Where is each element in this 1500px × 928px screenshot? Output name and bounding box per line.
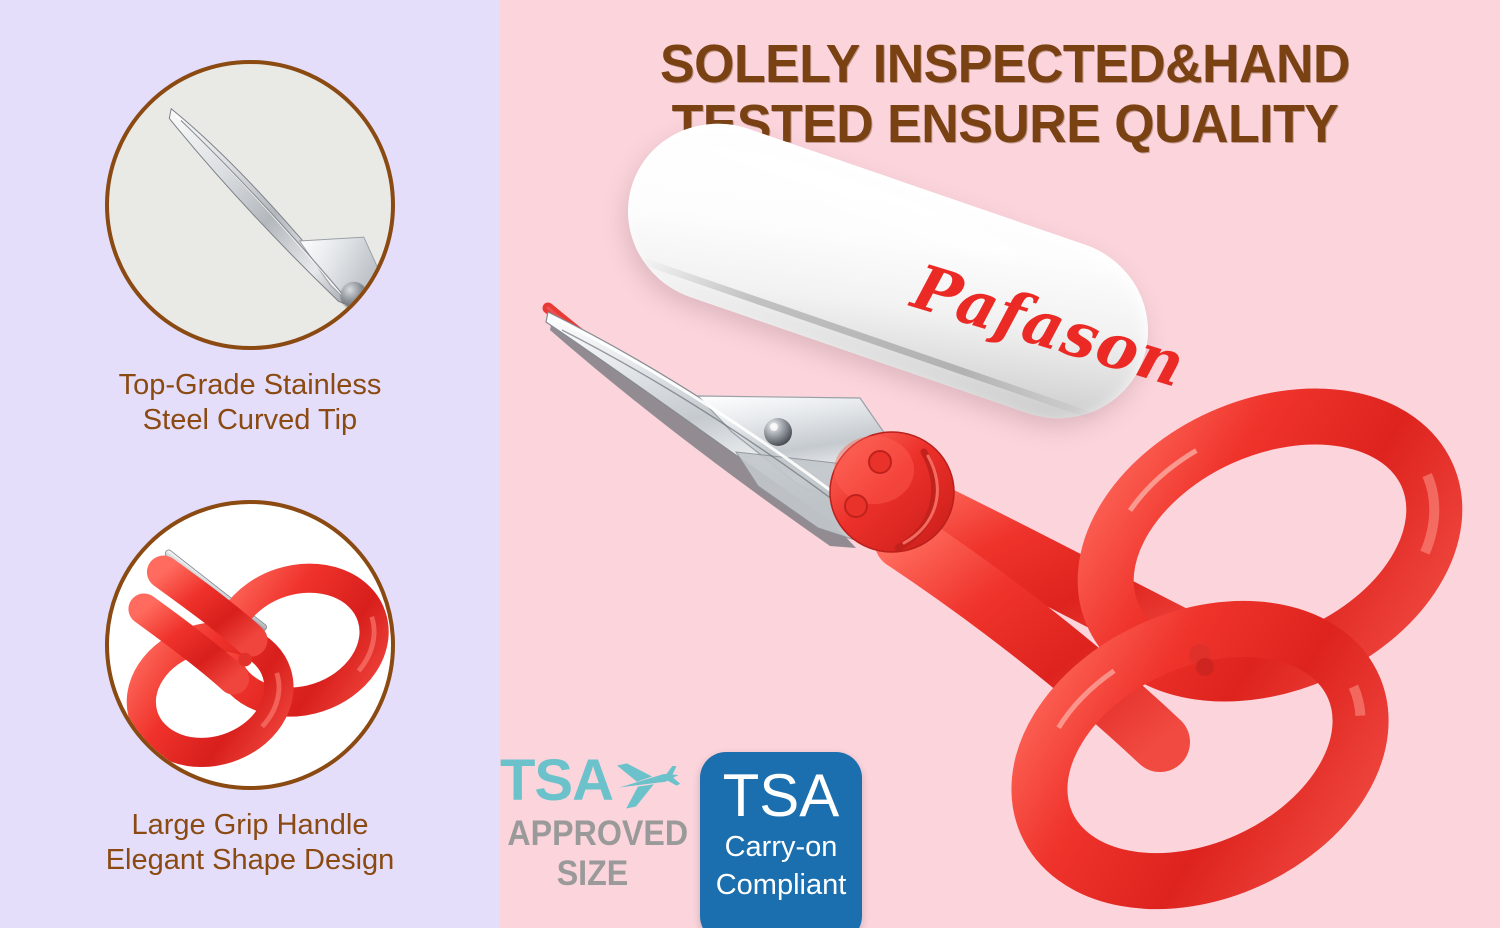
red-handle-rings-icon [109,504,391,786]
tsa-badge-title: TSA [700,764,862,828]
feature-caption-grip-handle: Large Grip Handle Elegant Shape Design [0,808,500,878]
tsa-carry-on-compliant-badge: TSA Carry-on Compliant [700,752,862,928]
product-banner: SOLELY INSPECTED&HAND TESTED ENSURE QUAL… [0,0,1500,928]
airplane-icon [615,753,685,809]
tsa-badge-line1: Carry-on [700,828,862,866]
feature-circle-curved-tip [105,60,395,350]
tsa-approved-word: TSA [500,752,613,810]
feature-grip-handle: Large Grip Handle Elegant Shape Design [0,500,500,878]
feature-curved-tip: Top-Grade Stainless Steel Curved Tip [0,60,500,438]
blade-screw-icon [341,282,367,308]
feature-caption-curved-tip: Top-Grade Stainless Steel Curved Tip [0,368,500,438]
tsa-approved-subtext: APPROVED SIZE [507,814,677,894]
tsa-approved-size-badge: TSA APPROVED SIZE [500,752,685,894]
feature-circle-grip-handle [105,500,395,790]
tsa-badge-line2: Compliant [700,866,862,904]
smiley-hub-icon [830,432,954,552]
